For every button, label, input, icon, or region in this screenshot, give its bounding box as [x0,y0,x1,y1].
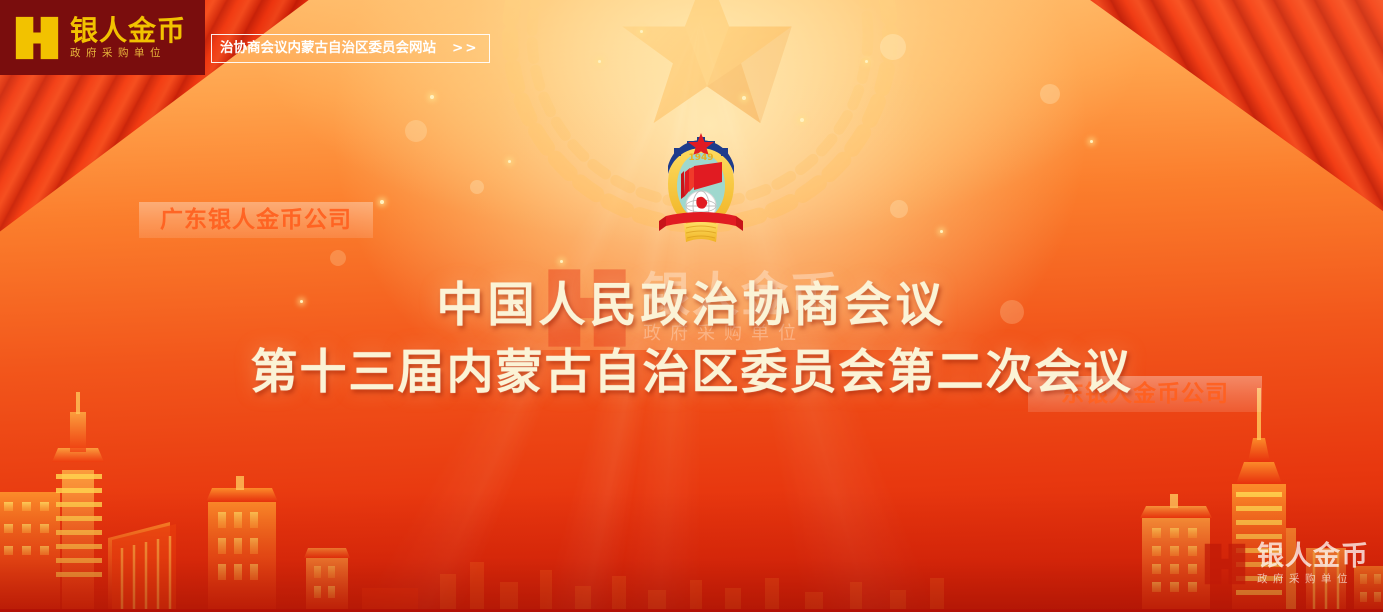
header-brand-name: 银人金币 [70,17,186,45]
header-brand-text: 银人金币 政府采购单位 [70,17,186,59]
spark-dot [560,260,563,263]
spark-dot [1090,140,1093,143]
header-brand-subtitle: 政府采购单位 [70,48,186,59]
bokeh-dot [1040,84,1060,104]
banner-title-line-2: 第十三届内蒙古自治区委员会第二次会议 [0,349,1383,396]
site-nav-link-label: 治协商会议内蒙古自治区委员会网站 [220,42,436,56]
butterfly-h-mark-icon [1203,542,1247,586]
cppcc-emblem-icon: 1949 [654,124,748,246]
banner-title-block: 中国人民政治协商会议 第十三届内蒙古自治区委员会第二次会议 [0,282,1383,396]
bottom-right-watermark-subtitle: 政府采购单位 [1257,574,1369,585]
bottom-right-watermark: 银人金币 政府采购单位 [1203,542,1369,586]
spark-dot [380,200,384,204]
bokeh-dot [405,120,427,142]
bokeh-dot [330,250,346,266]
bottom-fade [0,492,1383,612]
bottom-right-watermark-name: 银人金币 [1257,543,1369,570]
chevron-right-double-icon: >> [452,42,479,56]
watermark-badge-left-text: 广东银人金币公司 [160,209,352,232]
site-nav-link-button[interactable]: 治协商会议内蒙古自治区委员会网站 >> [211,34,490,63]
red-curtain-drape-right-icon [993,0,1383,240]
header-brand-logo[interactable]: 银人金币 政府采购单位 [0,0,205,75]
svg-text:1949: 1949 [688,153,713,163]
spark-dot [430,95,434,99]
butterfly-h-mark-icon [14,15,60,61]
banner-stage: 1949 [0,0,1383,612]
five-pointed-star-icon [612,0,802,137]
watermark-badge-left: 广东银人金币公司 [139,202,373,238]
banner-title-line-1: 中国人民政治协商会议 [0,282,1383,329]
